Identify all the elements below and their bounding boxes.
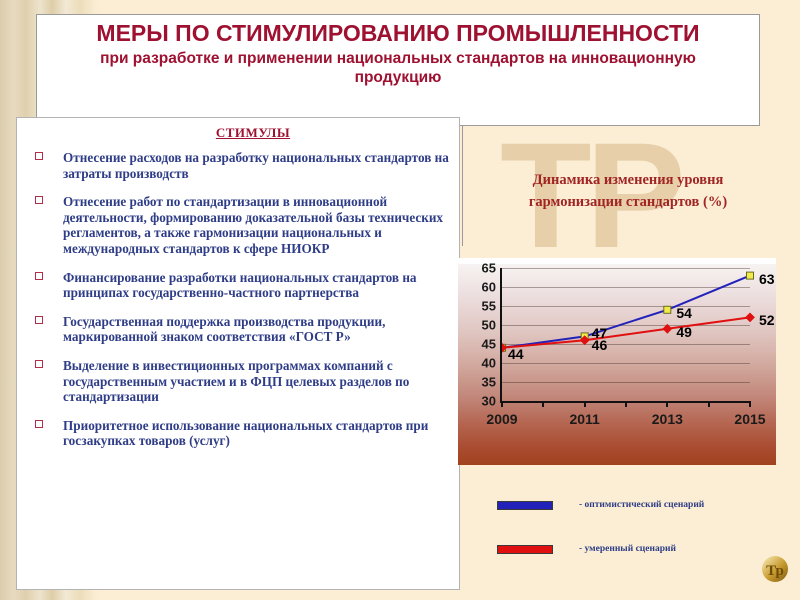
column-divider xyxy=(462,126,463,246)
list-item-label: Финансирование разработки национальных с… xyxy=(63,270,417,301)
chart-y-tick-label: 40 xyxy=(482,356,496,371)
chart-x-tick-label: 2013 xyxy=(652,411,683,427)
chart-data-point xyxy=(664,306,671,313)
chart-y-tick-label: 65 xyxy=(482,261,496,276)
chart-data-label: 49 xyxy=(676,324,692,340)
list-item: Выделение в инвестиционных программах ко… xyxy=(29,358,449,405)
list-item-label: Выделение в инвестиционных программах ко… xyxy=(63,358,409,404)
chart-data-label: 54 xyxy=(676,305,692,321)
list-item: Государственная поддержка производства п… xyxy=(29,314,449,345)
logo-text: Тр xyxy=(766,563,784,579)
chart-y-tick-label: 50 xyxy=(482,318,496,333)
slide-title-box: МЕРЫ ПО СТИМУЛИРОВАНИЮ ПРОМЫШЛЕННОСТИ пр… xyxy=(36,14,760,126)
stimuli-panel: СТИМУЛЫ Отнесение расходов на разработку… xyxy=(16,117,460,590)
chart-y-tick-label: 60 xyxy=(482,280,496,295)
square-bullet-icon xyxy=(35,316,43,324)
square-bullet-icon xyxy=(35,360,43,368)
chart-data-label: 46 xyxy=(592,337,608,353)
section-heading: СТИМУЛЫ xyxy=(17,125,459,141)
chart-plot-area: 3035404550556065 2009201120132015 444754… xyxy=(500,268,750,403)
chart-x-tick-label: 2015 xyxy=(734,411,765,427)
chart-y-tick-label: 45 xyxy=(482,337,496,352)
page-title: МЕРЫ ПО СТИМУЛИРОВАНИЮ ПРОМЫШЛЕННОСТИ xyxy=(37,21,759,46)
harmonization-line-chart: 3035404550556065 2009201120132015 444754… xyxy=(458,258,776,465)
list-item: Отнесение работ по стандартизации в инно… xyxy=(29,194,449,256)
list-item-label: Приоритетное использование национальных … xyxy=(63,418,428,449)
legend-swatch-moderate xyxy=(497,545,553,554)
legend-label-optimistic: - оптимистический сценарий xyxy=(579,500,704,510)
chart-y-tick-label: 55 xyxy=(482,299,496,314)
legend-swatch-optimistic xyxy=(497,501,553,510)
square-bullet-icon xyxy=(35,420,43,428)
chart-data-label: 52 xyxy=(759,312,775,328)
chart-series-lines xyxy=(502,268,760,408)
legend-item-optimistic: - оптимистический сценарий xyxy=(497,500,704,510)
chart-x-tick-label: 2011 xyxy=(569,411,599,427)
square-bullet-icon xyxy=(35,272,43,280)
list-item-label: Государственная поддержка производства п… xyxy=(63,314,385,345)
legend-label-moderate: - умеренный сценарий xyxy=(579,544,676,554)
chart-y-tick-label: 30 xyxy=(482,394,496,409)
stimuli-list: Отнесение расходов на разработку национа… xyxy=(17,150,459,449)
list-item-label: Отнесение расходов на разработку национа… xyxy=(63,150,449,181)
square-bullet-icon xyxy=(35,196,43,204)
chart-title-box: Динамика изменения уровня гармонизации с… xyxy=(464,126,792,256)
list-item-label: Отнесение работ по стандартизации в инно… xyxy=(63,194,443,256)
chart-y-tick-label: 35 xyxy=(482,375,496,390)
chart-x-tick-label: 2009 xyxy=(486,411,517,427)
page-subtitle: при разработке и применении национальных… xyxy=(37,49,759,87)
chart-data-point xyxy=(747,272,754,279)
chart-title: Динамика изменения уровня гармонизации с… xyxy=(498,169,758,213)
legend-item-moderate: - умеренный сценарий xyxy=(497,544,676,554)
list-item: Отнесение расходов на разработку национа… xyxy=(29,150,449,181)
square-bullet-icon xyxy=(35,152,43,160)
chart-data-label: 63 xyxy=(759,271,775,287)
list-item: Приоритетное использование национальных … xyxy=(29,418,449,449)
chart-series-line xyxy=(502,276,750,348)
list-item: Финансирование разработки национальных с… xyxy=(29,270,449,301)
chart-data-label: 44 xyxy=(508,346,524,362)
organization-logo: Тр xyxy=(739,544,793,594)
chart-data-point xyxy=(746,313,754,321)
chart-data-point xyxy=(663,325,671,333)
